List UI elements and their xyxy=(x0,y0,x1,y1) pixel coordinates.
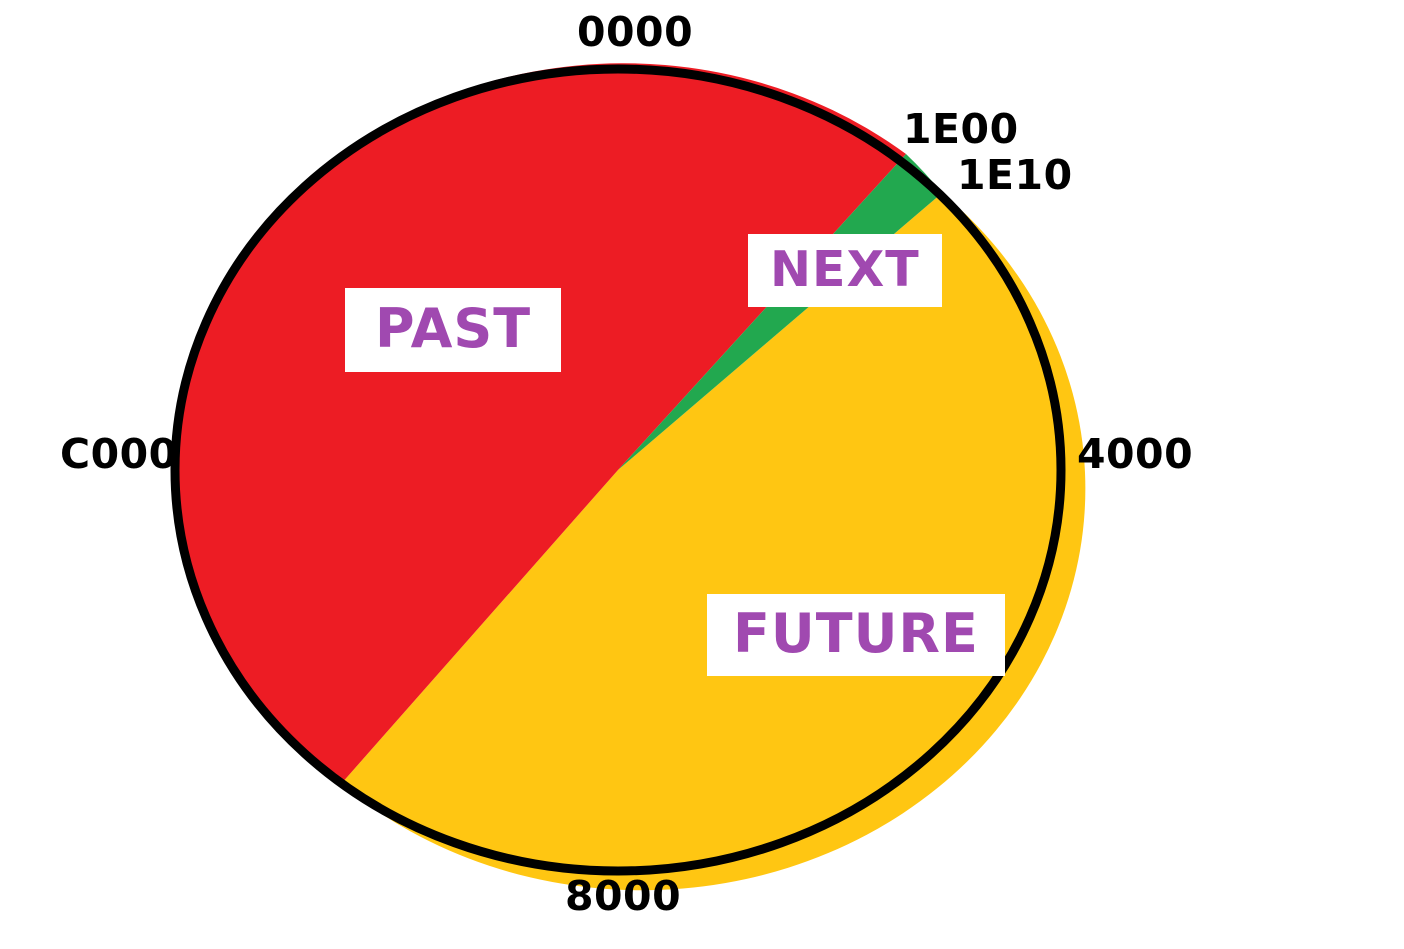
tick-label-c000: C000 xyxy=(60,434,178,475)
tick-label-8000: 8000 xyxy=(565,876,681,917)
tick-label-4000: 4000 xyxy=(1077,434,1193,475)
region-label-next: NEXT xyxy=(748,234,942,307)
sequence-space-wheel-diagram: 0000 1E00 1E10 4000 8000 C000 PAST NEXT … xyxy=(0,0,1404,949)
region-label-future: FUTURE xyxy=(707,594,1005,676)
wheel-svg xyxy=(0,0,1404,949)
tick-label-1e00: 1E00 xyxy=(903,109,1019,150)
region-label-past: PAST xyxy=(345,288,561,372)
tick-label-0000: 0000 xyxy=(577,12,693,53)
tick-label-1e10: 1E10 xyxy=(957,155,1073,196)
